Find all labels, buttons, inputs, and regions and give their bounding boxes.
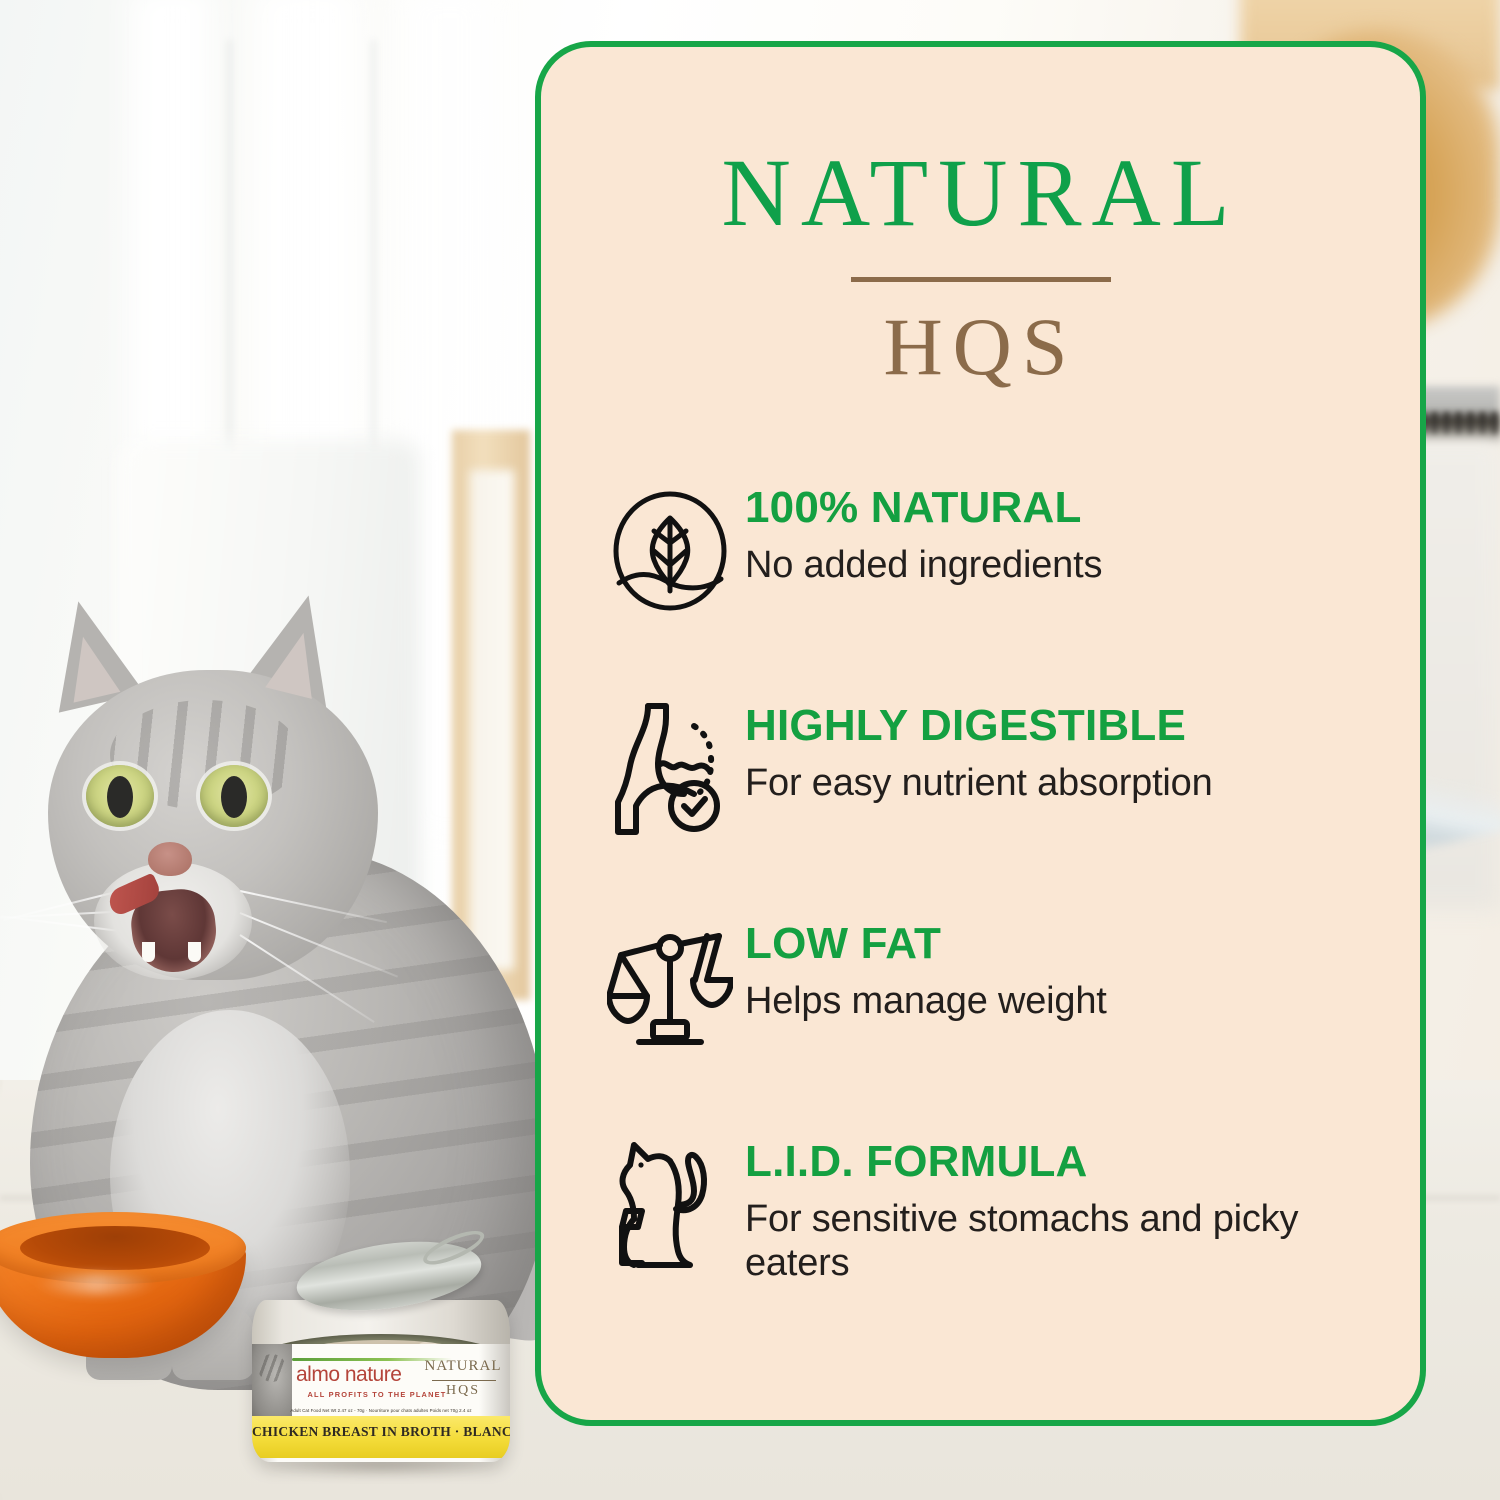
can-range-divider <box>432 1380 496 1381</box>
sitting-cat-icon <box>595 1134 745 1276</box>
benefit-heading: 100% NATURAL <box>745 486 1374 531</box>
balance-scale-icon <box>595 916 745 1058</box>
title-divider <box>851 277 1111 282</box>
panel-header: NATURAL HQS <box>541 47 1420 388</box>
cat-tooth <box>142 942 155 962</box>
leaf-in-circle-icon <box>595 480 745 622</box>
benefit-subtext: For easy nutrient absorption <box>745 761 1374 805</box>
bowl-interior <box>20 1226 210 1270</box>
benefit-heading: L.I.D. FORMULA <box>745 1140 1374 1185</box>
benefits-panel: NATURAL HQS <box>535 41 1426 1426</box>
cat-tooth <box>188 942 201 962</box>
list-item: 100% NATURAL No added ingredients <box>595 480 1374 622</box>
benefits-list: 100% NATURAL No added ingredients <box>541 480 1420 1285</box>
benefit-heading: HIGHLY DIGESTIBLE <box>745 704 1374 749</box>
benefit-subtext: Helps manage weight <box>745 979 1374 1023</box>
list-item-text: HIGHLY DIGESTIBLE For easy nutrient abso… <box>745 698 1374 805</box>
cat-pupil-left <box>107 776 133 818</box>
list-item: LOW FAT Helps manage weight <box>595 916 1374 1058</box>
can-flavor-text: CHICKEN BREAST IN BROTH · BLANC DE POULE… <box>252 1424 510 1440</box>
benefit-subtext: For sensitive stomachs and picky eaters <box>745 1197 1374 1285</box>
cat-nose <box>148 842 192 876</box>
product-feature-graphic: almo nature ALL PROFITS TO THE PLANET NA… <box>0 0 1500 1500</box>
can-fine-print: Adult Cat Food Net Wt 2.47 oz - 70g · No… <box>252 1408 510 1413</box>
list-item: HIGHLY DIGESTIBLE For easy nutrient abso… <box>595 698 1374 840</box>
benefit-subtext: No added ingredients <box>745 543 1374 587</box>
page-title: NATURAL <box>541 145 1420 241</box>
can-label: almo nature ALL PROFITS TO THE PLANET NA… <box>252 1344 510 1462</box>
list-item: L.I.D. FORMULA For sensitive stomachs an… <box>595 1134 1374 1285</box>
list-item-text: L.I.D. FORMULA For sensitive stomachs an… <box>745 1134 1374 1285</box>
can-body: almo nature ALL PROFITS TO THE PLANET NA… <box>252 1300 510 1462</box>
product-can: almo nature ALL PROFITS TO THE PLANET NA… <box>252 1248 514 1470</box>
can-range-name: NATURAL <box>424 1358 502 1375</box>
list-item-text: 100% NATURAL No added ingredients <box>745 480 1374 587</box>
cat-pupil-right <box>221 776 247 818</box>
can-range-sub: HQS <box>424 1383 502 1399</box>
list-item-text: LOW FAT Helps manage weight <box>745 916 1374 1023</box>
page-subtitle: HQS <box>541 306 1420 388</box>
orange-food-bowl <box>0 1200 254 1380</box>
stomach-check-icon <box>595 698 745 840</box>
benefit-heading: LOW FAT <box>745 922 1374 967</box>
bowl-highlight <box>36 1274 156 1294</box>
